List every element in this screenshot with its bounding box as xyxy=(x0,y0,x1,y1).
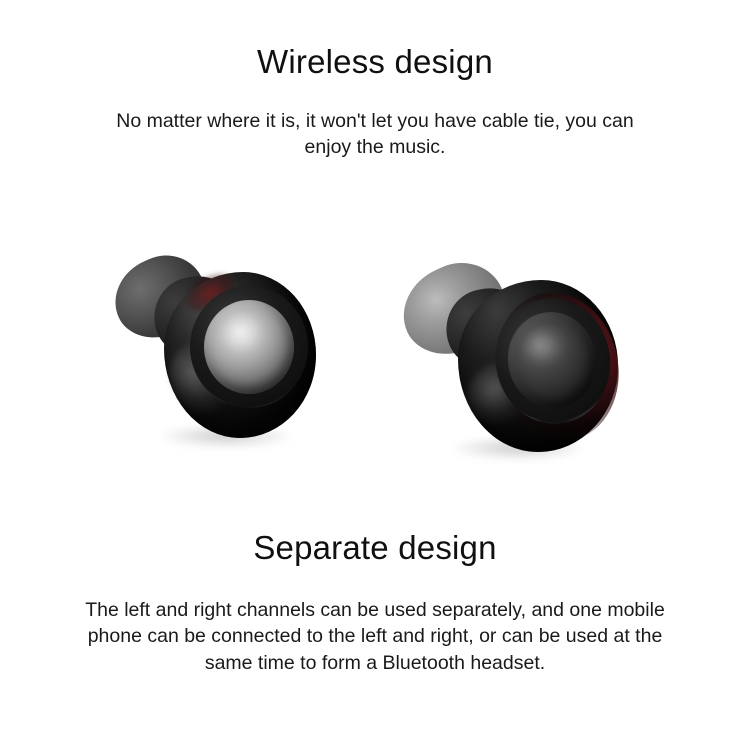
right-earbud-illustration xyxy=(400,258,620,458)
separate-design-description: The left and right channels can be used … xyxy=(0,597,750,676)
left-earbud-face-glint xyxy=(220,314,264,352)
wireless-description-line-1: No matter where it is, it won't let you … xyxy=(0,108,750,134)
separate-description-line-2: phone can be connected to the left and r… xyxy=(0,623,750,649)
left-earbud-illustration xyxy=(108,246,328,446)
wireless-design-description: No matter where it is, it won't let you … xyxy=(0,108,750,161)
separate-description-line-1: The left and right channels can be used … xyxy=(0,597,750,623)
separate-description-line-3: same time to form a Bluetooth headset. xyxy=(0,650,750,676)
right-earbud-face-glint xyxy=(520,326,566,366)
earbuds-product-image xyxy=(0,238,750,458)
product-feature-page: Wireless design No matter where it is, i… xyxy=(0,0,750,750)
wireless-design-heading: Wireless design xyxy=(0,44,750,80)
wireless-description-line-2: enjoy the music. xyxy=(0,134,750,160)
separate-design-heading: Separate design xyxy=(0,530,750,566)
